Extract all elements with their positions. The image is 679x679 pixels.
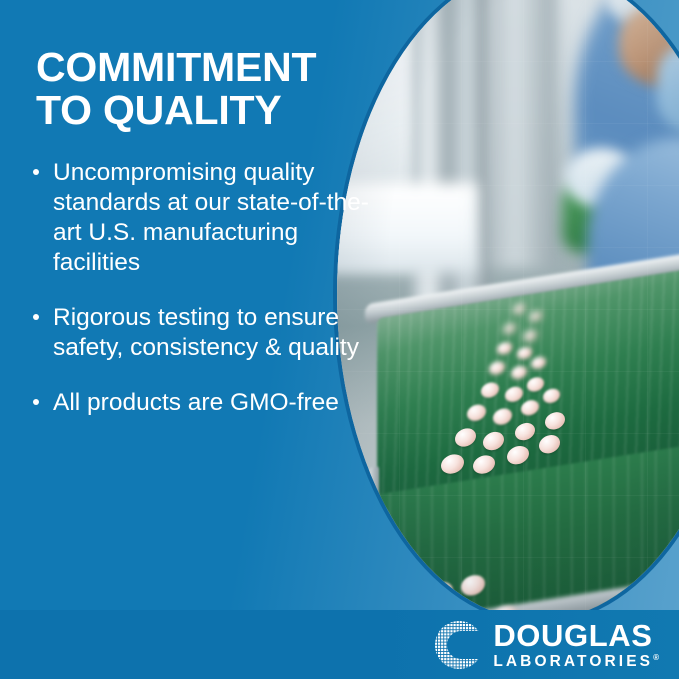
logo-subtitle-text: LABORATORIES xyxy=(493,653,653,670)
photo-belt-post-left xyxy=(369,466,379,514)
page-title: COMMITMENT TO QUALITY xyxy=(0,0,380,131)
logo-subtitle: LABORATORIES® xyxy=(493,654,659,670)
logo-wordmark: DOUGLAS LABORATORIES® xyxy=(493,620,659,670)
quality-bullet-list: Uncompromising quality standards at our … xyxy=(0,131,380,417)
logo-title: DOUGLAS xyxy=(493,620,659,651)
douglas-laboratories-logo: DOUGLAS LABORATORIES® xyxy=(434,620,659,670)
photo-machine-column-2 xyxy=(487,0,557,268)
commitment-to-quality-banner: COMMITMENT TO QUALITY Uncompromising qua… xyxy=(0,0,679,679)
headline-line-1: COMMITMENT xyxy=(36,44,316,90)
registered-trademark-icon: ® xyxy=(653,653,659,662)
photo-canvas xyxy=(337,0,679,620)
douglas-grid-circle-icon xyxy=(434,620,484,670)
text-column: COMMITMENT TO QUALITY Uncompromising qua… xyxy=(0,0,380,442)
list-item: Rigorous testing to ensure safety, consi… xyxy=(33,303,380,363)
headline-line-2: TO QUALITY xyxy=(36,89,380,132)
list-item: All products are GMO-free xyxy=(33,388,380,418)
product-photo xyxy=(337,0,679,620)
list-item: Uncompromising quality standards at our … xyxy=(33,158,380,278)
